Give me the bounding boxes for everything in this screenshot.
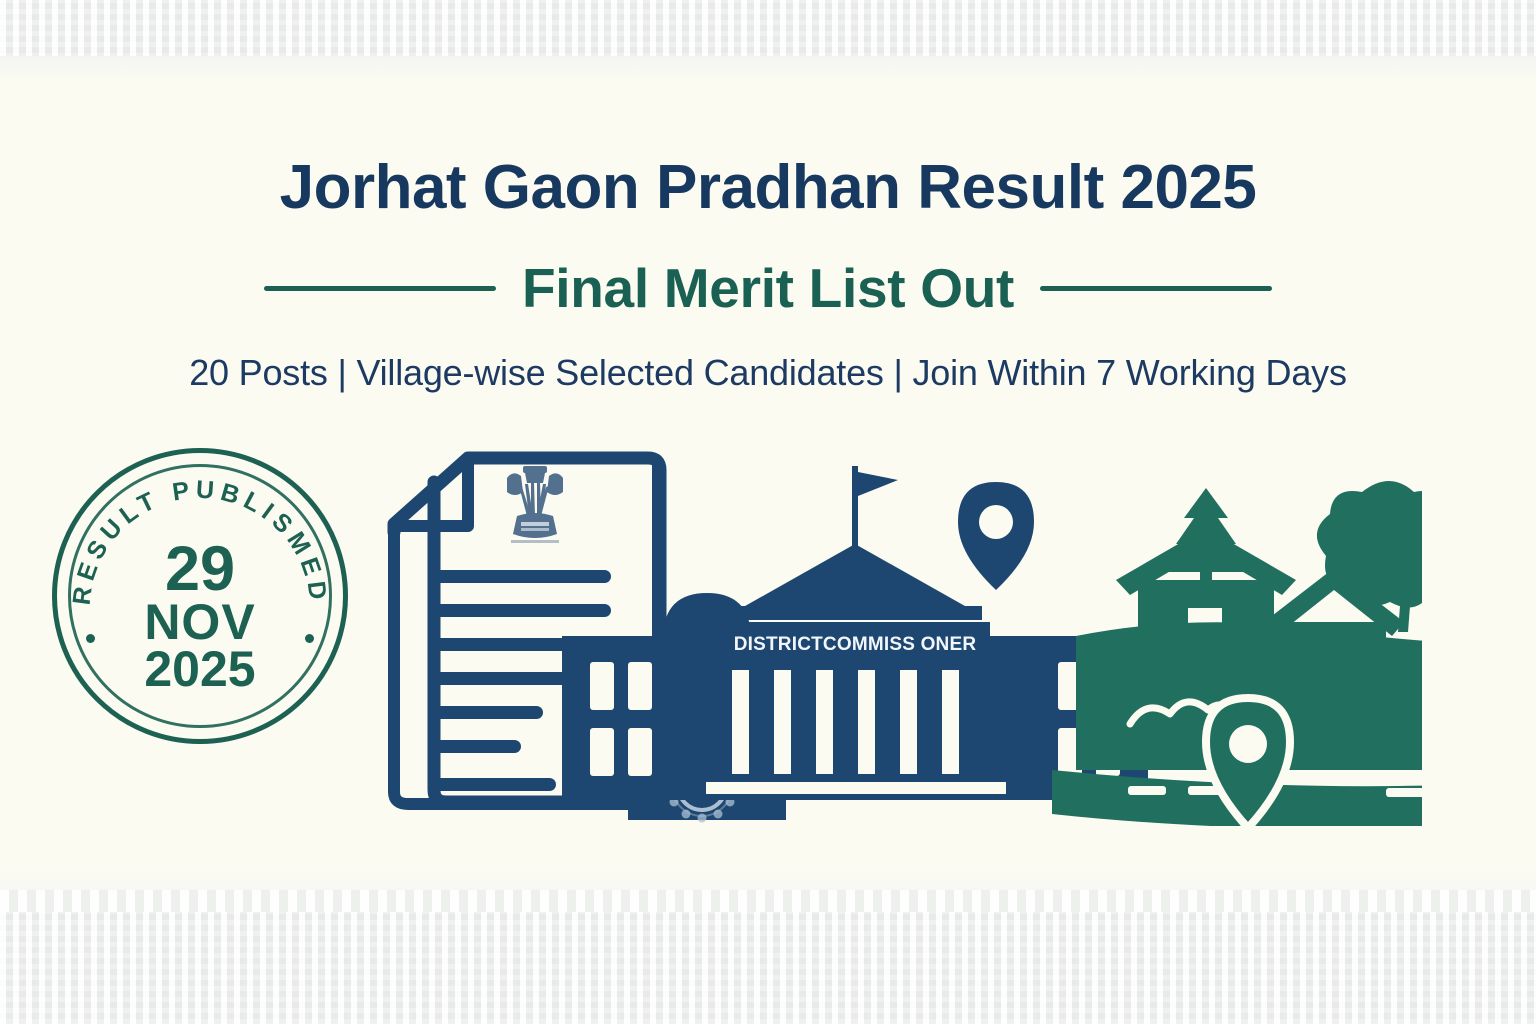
stamp-date-block: 29 NOV 2025 [52, 540, 348, 693]
top-fade [0, 56, 1536, 82]
page-title: Jorhat Gaon Pradhan Result 2025 [0, 152, 1536, 223]
national-emblem [507, 466, 563, 543]
top-texture-band [0, 0, 1536, 58]
subheadline: Final Merit List Out [522, 256, 1014, 320]
district-commissioner-building: DISTRICTCOMMISS ONER [562, 466, 1148, 800]
tagline: 20 Posts | Village-wise Selected Candida… [0, 352, 1536, 394]
illustration-group: DISTRICTCOMMISS ONER [376, 440, 1422, 826]
stamp-year: 2025 [52, 646, 348, 693]
stamp-month: NOV [52, 599, 348, 646]
rule-right [1040, 286, 1272, 291]
bottom-texture-band [0, 912, 1536, 1024]
rule-left [264, 286, 496, 291]
result-published-stamp: RESULT PUBLISMED 29 NOV 2025 [52, 448, 348, 744]
building-sign-label: DISTRICTCOMMISS ONER [734, 634, 977, 655]
poster-canvas: Jorhat Gaon Pradhan Result 2025 Final Me… [0, 0, 1536, 1024]
location-pin-top [958, 482, 1034, 590]
subheadline-row: Final Merit List Out [0, 256, 1536, 320]
stamp-day: 29 [52, 540, 348, 599]
bottom-fade [0, 862, 1536, 892]
flag [858, 472, 898, 496]
flag-pole [852, 466, 858, 552]
